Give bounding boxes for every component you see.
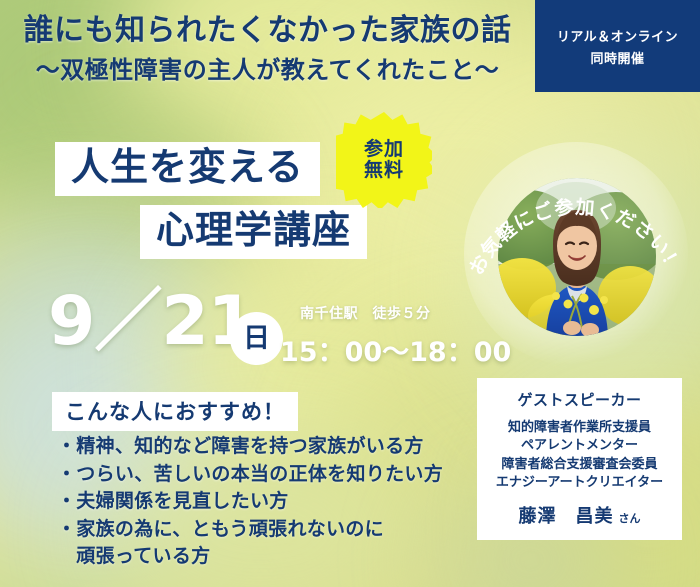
weekday-badge: 日 (230, 312, 283, 365)
event-time: 15：00〜18：00 (280, 330, 511, 369)
free-participation-starburst: 参加 無料 (336, 112, 432, 208)
speaker-name: 藤澤 昌美 (519, 502, 614, 528)
recommend-list: ・精神、知的など障害を持つ家族がいる方 ・つらい、苦しいの本当の正体を知りたい方… (57, 433, 477, 571)
list-item: ・つらい、苦しいの本当の正体を知りたい方 (57, 461, 477, 489)
poster-title-main: 誰にも知られたくなかった家族の話 (0, 14, 535, 49)
event-poster: 誰にも知られたくなかった家族の話 〜双極性障害の主人が教えてくれたこと〜 リアル… (0, 0, 700, 587)
headline-line-1: 人生を変える (71, 148, 304, 188)
guest-speaker-label: ゲストスピーカー (517, 389, 641, 410)
speaker-role: ペアレントメンター (521, 437, 638, 455)
weekday-label: 日 (243, 325, 270, 352)
recommend-heading-text: こんな人におすすめ！ (65, 400, 285, 424)
station-access: 南千住駅 徒歩５分 (300, 303, 431, 323)
headline-band-1: 人生を変える (55, 142, 320, 196)
free-badge-line1: 参加 (364, 140, 404, 160)
speaker-name-row: 藤澤 昌美 さん (519, 502, 641, 528)
date-time-group: 9／21 日 南千住駅 徒歩５分 15：00〜18：00 (48, 292, 468, 376)
list-item: ・精神、知的など障害を持つ家族がいる方 (57, 433, 477, 461)
list-item: ・家族の為に、ともう頑張れないのに 頑張っている方 (57, 516, 477, 571)
free-badge-line2: 無料 (364, 161, 404, 181)
recommend-heading-band: こんな人におすすめ！ (52, 392, 298, 431)
arc-text-content: お気軽にご参加ください！ (465, 195, 686, 278)
speaker-role: エナジーアートクリエイター (496, 474, 663, 492)
headline-band-2: 心理学講座 (140, 205, 367, 259)
format-badge: リアル＆オンライン 同時開催 (535, 0, 700, 92)
format-badge-line2: 同時開催 (590, 48, 644, 67)
speaker-role: 知的障害者作業所支援員 (508, 419, 651, 437)
poster-title-sub: 〜双極性障害の主人が教えてくれたこと〜 (0, 55, 535, 86)
list-item: ・夫婦関係を見直したい方 (57, 488, 477, 516)
guest-speaker-card: ゲストスピーカー 知的障害者作業所支援員 ペアレントメンター 障害者総合支援審査… (477, 378, 682, 540)
headline-line-2: 心理学講座 (156, 211, 351, 251)
svg-text:お気軽にご参加ください！: お気軽にご参加ください！ (465, 195, 686, 278)
event-date: 9／21 (48, 288, 254, 356)
speaker-role: 障害者総合支援審査会委員 (501, 456, 657, 474)
format-badge-line1: リアル＆オンライン (557, 26, 678, 45)
header-title-group: 誰にも知られたくなかった家族の話 〜双極性障害の主人が教えてくれたこと〜 (0, 14, 535, 86)
speaker-honorific: さん (619, 510, 641, 526)
